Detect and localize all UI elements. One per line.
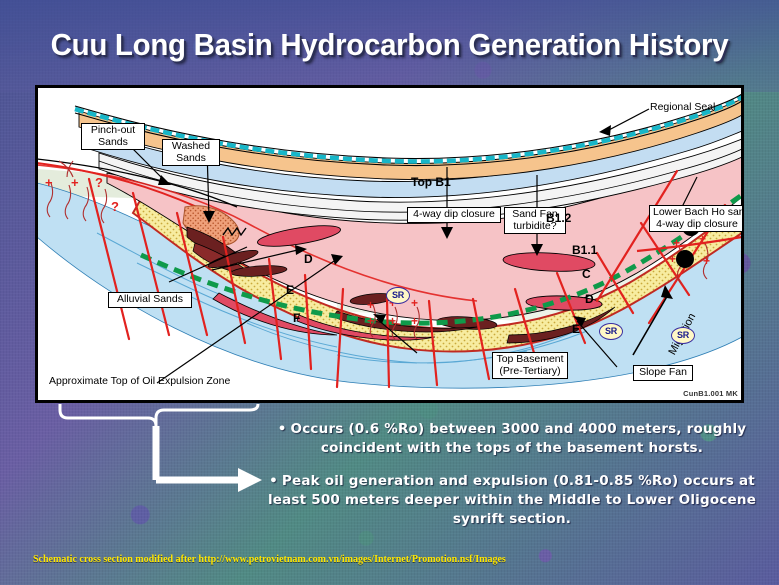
callout-lower-bach-ho-l2: 4-way dip closure xyxy=(653,219,741,231)
callout-four-way-dip-closure: 4-way dip closure xyxy=(407,207,501,223)
callout-washed-sands: Washed Sands xyxy=(162,139,220,166)
svg-text:?: ? xyxy=(111,199,119,214)
strat-label-e-left: E xyxy=(286,283,294,297)
strat-label-d-mid: D xyxy=(585,292,594,306)
bullet-text-1: Occurs (0.6 %Ro) between 3000 and 4000 m… xyxy=(291,421,747,456)
strat-label-b1-2: B1.2 xyxy=(546,211,571,225)
strat-label-e-right: E xyxy=(572,322,580,336)
strat-label-top-b1: Top B1 xyxy=(411,175,451,189)
bullet-list: •Occurs (0.6 %Ro) between 3000 and 4000 … xyxy=(262,420,762,543)
callout-alluvial-sands: Alluvial Sands xyxy=(108,292,192,308)
source-rock-badge-2: SR xyxy=(599,323,623,340)
svg-text:+: + xyxy=(669,252,676,266)
callout-top-basement-l2: (Pre-Tertiary) xyxy=(496,366,564,378)
strat-label-d-left: D xyxy=(304,252,313,266)
bullet-item-1: •Occurs (0.6 %Ro) between 3000 and 4000 … xyxy=(262,420,762,458)
svg-text:+: + xyxy=(703,254,710,268)
svg-text:+: + xyxy=(71,175,79,190)
svg-text:+: + xyxy=(389,314,396,328)
callout-top-basement-l1: Top Basement xyxy=(496,354,564,366)
svg-text:+: + xyxy=(411,314,418,328)
bullet-marker-1: • xyxy=(278,421,287,437)
strat-label-c: C xyxy=(582,267,591,281)
source-rock-badge-3: SR xyxy=(671,327,695,344)
bullet-item-2: •Peak oil generation and expulsion (0.81… xyxy=(262,472,762,529)
figure-credit: CunB1.001 MK xyxy=(683,389,738,398)
bullet-marker-2: • xyxy=(269,473,278,489)
strat-label-f: F xyxy=(293,311,300,325)
slide-title: Cuu Long Basin Hydrocarbon Generation Hi… xyxy=(19,27,759,63)
callout-slope-fan: Slope Fan xyxy=(633,365,693,381)
svg-text:?: ? xyxy=(95,175,103,190)
slide-root: Cuu Long Basin Hydrocarbon Generation Hi… xyxy=(0,0,779,585)
callout-lower-bach-ho-sand: Lower Bach Ho sand 4-way dip closure xyxy=(649,205,744,232)
callout-pinch-out-sands: Pinch-out Sands xyxy=(81,123,145,150)
svg-text:+: + xyxy=(411,296,418,310)
callout-pinch-out-sands-l2: Sands xyxy=(85,137,141,149)
label-oil-expulsion-zone: Approximate Top of Oil Expulsion Zone xyxy=(49,375,230,387)
bullet-text-2: Peak oil generation and expulsion (0.81-… xyxy=(268,473,756,527)
callout-top-basement: Top Basement (Pre-Tertiary) xyxy=(492,352,568,379)
callout-washed-sands-l2: Sands xyxy=(166,153,216,165)
callout-lower-bach-ho-l1: Lower Bach Ho sand xyxy=(653,207,741,219)
label-regional-seal: Regional Seal xyxy=(650,101,715,113)
source-footer: Schematic cross section modified after h… xyxy=(33,554,753,565)
cross-section-figure: +++ +++ ++ ++ xyxy=(35,85,744,403)
svg-text:+: + xyxy=(45,175,53,190)
strat-label-b1-1: B1.1 xyxy=(572,243,597,257)
svg-text:+: + xyxy=(367,298,374,312)
callout-washed-sands-l1: Washed xyxy=(166,141,216,153)
svg-text:+: + xyxy=(367,314,374,328)
source-rock-badge-1: SR xyxy=(386,287,410,304)
callout-pinch-out-sands-l1: Pinch-out xyxy=(85,125,141,137)
